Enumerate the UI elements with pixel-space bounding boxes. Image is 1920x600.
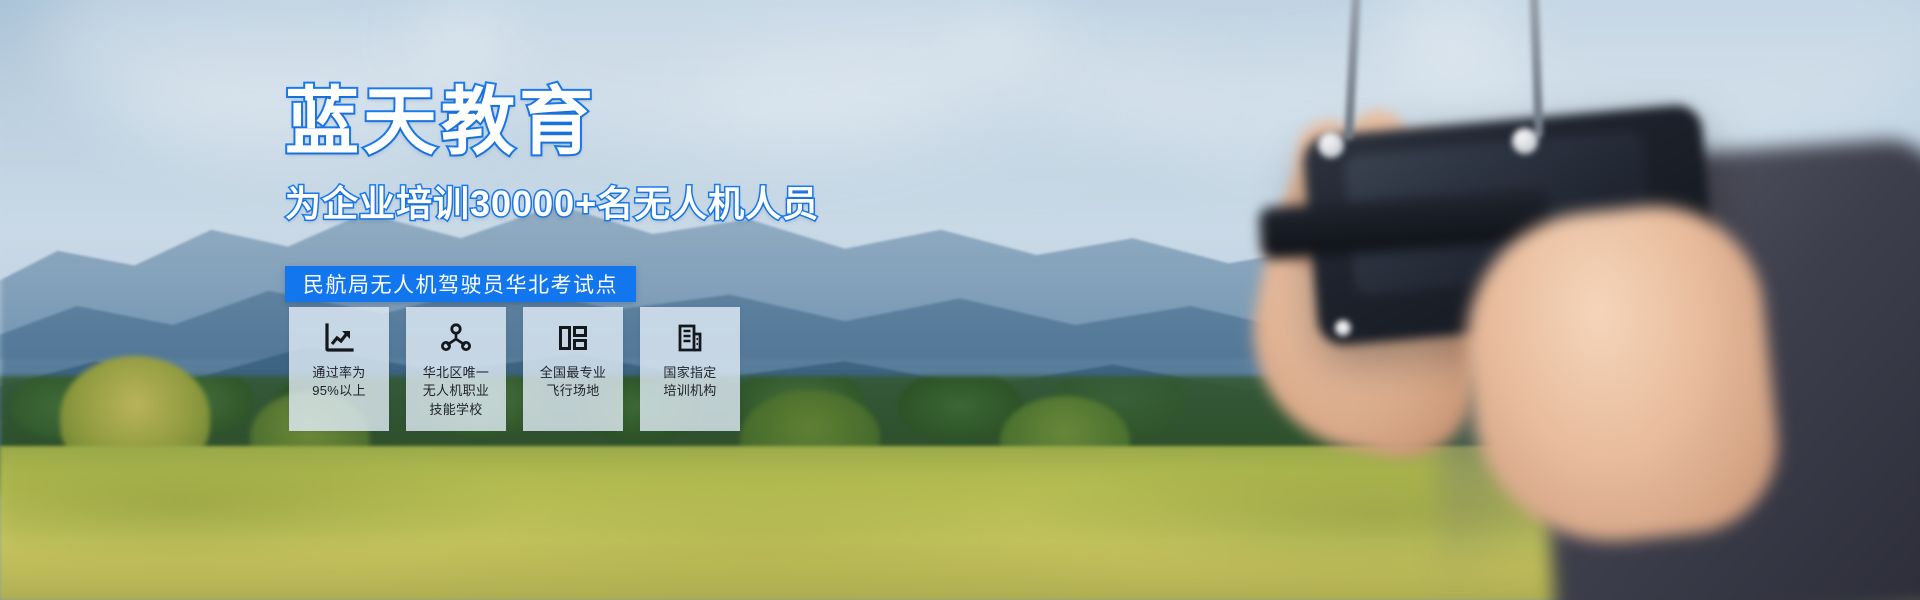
banner-content: 蓝天教育 为企业培训30000+名无人机人员 民航局无人机驾驶员华北考试点 通过… [0, 0, 1920, 600]
hero-banner: 蓝天教育 为企业培训30000+名无人机人员 民航局无人机驾驶员华北考试点 通过… [0, 0, 1920, 600]
banner-headline: 蓝天教育 [285, 85, 597, 159]
feature-card-label: 通过率为 95%以上 [312, 364, 366, 401]
feature-card-label: 全国最专业 飞行场地 [540, 364, 607, 401]
feature-card-pass-rate[interactable]: 通过率为 95%以上 [289, 307, 389, 431]
feature-card-label: 华北区唯一 无人机职业 技能学校 [423, 364, 490, 419]
feature-card-state-designated[interactable]: 国家指定 培训机构 [640, 307, 740, 431]
feature-card-flight-field[interactable]: 全国最专业 飞行场地 [523, 307, 623, 431]
banner-subheadline: 为企业培训30000+名无人机人员 [285, 186, 819, 222]
chart-growth-icon [322, 321, 356, 355]
network-nodes-icon [439, 321, 473, 355]
feature-card-vocational-school[interactable]: 华北区唯一 无人机职业 技能学校 [406, 307, 506, 431]
building-icon [673, 321, 707, 355]
layout-grid-icon [556, 321, 590, 355]
feature-card-label: 国家指定 培训机构 [663, 364, 716, 401]
feature-card-list: 通过率为 95%以上 华北区唯一 无人机职业 技能学校 [289, 307, 740, 431]
exam-site-badge: 民航局无人机驾驶员华北考试点 [285, 266, 636, 302]
